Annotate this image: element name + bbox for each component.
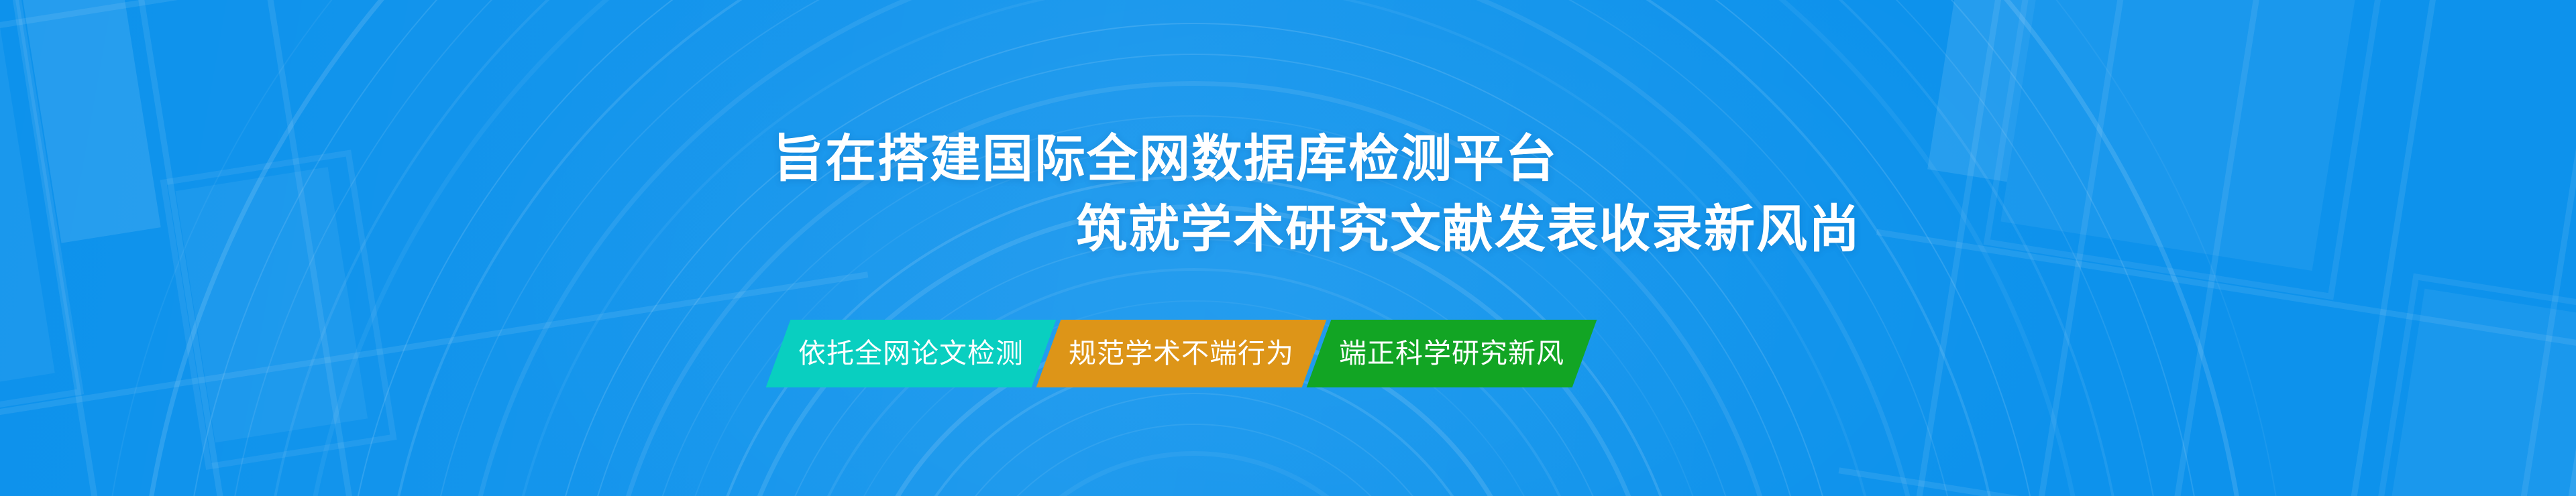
headline-block: 旨在搭建国际全网数据库检测平台 筑就学术研究文献发表收录新风尚 <box>0 0 2576 496</box>
feature-tag-0[interactable]: 依托全网论文检测 <box>766 320 1057 387</box>
feature-tag-1[interactable]: 规范学术不端行为 <box>1036 320 1327 387</box>
hero-banner: 旨在搭建国际全网数据库检测平台 筑就学术研究文献发表收录新风尚 依托全网论文检测… <box>0 0 2576 496</box>
feature-tag-1-label: 规范学术不端行为 <box>1066 340 1297 367</box>
feature-tag-2-label: 端正科学研究新风 <box>1336 340 1567 367</box>
headline-line-2: 筑就学术研究文献发表收录新风尚 <box>1076 204 1861 255</box>
feature-tag-2[interactable]: 端正科学研究新风 <box>1307 320 1597 387</box>
feature-tag-0-label: 依托全网论文检测 <box>796 340 1026 367</box>
feature-tag-bar: 依托全网论文检测 规范学术不端行为 端正科学研究新风 <box>778 320 1585 387</box>
headline-line-1: 旨在搭建国际全网数据库检测平台 <box>773 134 1558 185</box>
